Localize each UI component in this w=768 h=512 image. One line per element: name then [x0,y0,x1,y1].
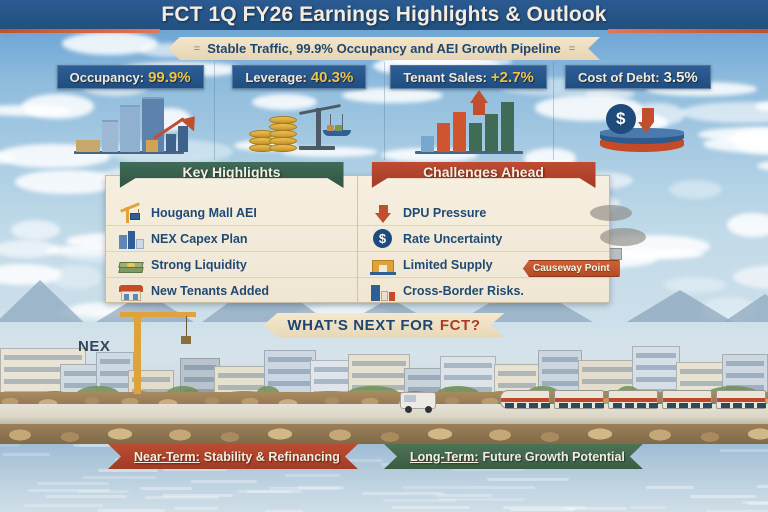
water-ripple [566,507,627,510]
water-ripple [37,482,109,485]
window-row [268,369,312,374]
train-window [691,403,700,408]
near-term-label: Near-Term: [134,450,200,464]
kpi-value-tenant-sales: +2.7% [491,69,534,86]
kpi-label-occupancy: Occupancy: [70,70,144,85]
water-ripple [174,507,220,510]
train-window [649,403,658,408]
key-highlights-ribbon: Key Highlights [120,162,344,188]
van-window [404,395,416,402]
water-ripple [140,487,193,490]
van-wheel-rear [425,406,432,413]
kpi-value-leverage: 40.3% [311,69,354,86]
water-ripple [748,502,768,505]
list-item[interactable]: Cross-Border Risks. [358,278,609,304]
bar-chart-up-arrow-icon [385,89,553,160]
kpi-label-leverage: Leverage: [245,70,306,85]
window-row [4,355,82,360]
infographic-canvas: NEX FCT 1Q FY26 Earnings Highlights & Ou… [0,0,768,512]
kpi-row: Occupancy: 99.9% Leverage: 40.3% [46,62,722,160]
window-row [100,371,130,376]
key-highlights-title: Key Highlights [182,164,280,180]
kpi-card-leverage: Leverage: 40.3% [215,62,384,160]
crane-cable [186,316,187,338]
train-car [500,390,550,409]
storm-cloud-icon [600,228,646,246]
kpi-card-occupancy: Occupancy: 99.9% [46,62,215,160]
ribbon-dash-right-icon: = [569,43,574,55]
water-ripple [720,449,768,452]
water-ripple [46,495,127,498]
train-window [733,403,742,408]
water-ripple [757,485,768,488]
office-buildings-icon [118,229,144,249]
train-car [608,390,658,409]
train-window [679,403,688,408]
train-stripe [555,398,603,402]
kpi-label-tenant-sales: Tenant Sales: [403,70,487,85]
list-item-label: Strong Liquidity [151,258,247,272]
window-row [542,381,578,386]
water-ripple [2,453,50,456]
header-bar: FCT 1Q FY26 Earnings Highlights & Outloo… [0,0,768,30]
list-item[interactable]: Hougang Mall AEI [106,200,357,226]
train-window [745,403,754,408]
causeway-point-label: Causeway Point [533,263,610,274]
train-stripe [663,398,711,402]
kpi-label-cost-of-debt: Cost of Debt: [578,70,660,85]
list-item-label: Rate Uncertainty [403,232,502,246]
train-window [703,403,712,408]
whats-next-highlight: FCT? [440,317,481,334]
list-item-label: Hougang Mall AEI [151,206,257,220]
whats-next-ribbon: WHAT'S NEXT FOR FCT? [263,313,504,337]
train-window [529,403,538,408]
train-window [517,403,526,408]
construction-crane-icon [118,203,144,223]
dollar-icon: $ [606,104,636,134]
long-term-ribbon: Long-Term: Future Growth Potential [384,444,643,469]
list-item[interactable]: $ Rate Uncertainty [358,226,609,252]
accent-strip-left [0,29,160,33]
window-row [726,373,764,378]
cash-stack-icon [118,255,144,275]
coins-balance-scale-icon [215,89,383,160]
kpi-value-occupancy: 99.9% [148,69,191,86]
water-ripple [191,480,257,483]
window-row [314,379,350,384]
train [500,390,768,412]
dollar-down-arrow-icon: $ [554,89,722,160]
train-car [716,390,766,409]
whats-next-text: WHAT'S NEXT FOR [287,317,433,334]
warehouse-icon [370,255,396,275]
train-stripe [501,398,549,402]
cloud-shape [11,220,60,240]
water-ripple [402,486,465,489]
water-ripple [435,494,492,497]
train-stripe [609,398,657,402]
water-ripple [83,476,156,479]
train-car [662,390,712,409]
train-window [613,403,622,408]
train-window [583,403,592,408]
page-title: FCT 1Q FY26 Earnings Highlights & Outloo… [161,3,606,27]
window-row [498,383,536,388]
cloud-shape [62,32,158,55]
window-row [582,379,634,384]
cloud-shape [0,240,59,258]
kpi-value-cost-of-debt: 3.5% [664,69,698,86]
window-row [184,377,216,382]
crane-jib [120,312,196,317]
train-window [541,403,550,408]
window-row [636,377,676,382]
long-term-label: Long-Term: [410,450,479,464]
train-window [625,403,634,408]
near-term-ribbon: Near-Term: Stability & Refinancing [108,444,358,469]
ribbon-dash-left-icon: = [194,43,199,55]
window-row [498,371,536,376]
window-row [680,369,726,374]
list-item-label: DPU Pressure [403,206,486,220]
train-window [667,403,676,408]
water-ripple [77,490,129,493]
cloud-shape [669,180,722,199]
water-area [0,444,768,512]
kpi-badge-leverage: Leverage: 40.3% [232,65,366,89]
train-window [721,403,730,408]
window-row [636,365,676,370]
kpi-badge-occupancy: Occupancy: 99.9% [57,65,204,89]
window-row [184,365,216,370]
kpi-card-cost-of-debt: Cost of Debt: 3.5% $ [554,62,722,160]
causeway-point-sign[interactable]: Causeway Point [523,260,620,277]
train-window [505,403,514,408]
water-ripple [646,486,694,489]
long-term-text: Future Growth Potential [483,450,625,464]
van-wheel-front [405,406,412,413]
water-ripple [98,469,158,472]
train-window [571,403,580,408]
crane-hook [181,336,191,344]
challenges-ahead-ribbon: Challenges Ahead [372,162,596,188]
window-row [582,367,634,372]
storm-cloud-icon [590,205,632,221]
window-row [636,353,676,358]
window-row [408,375,440,380]
water-ripple [392,506,470,509]
window-row [726,361,764,366]
water-ripple [465,486,535,489]
buildings-growth-chart-icon [46,89,214,160]
window-row [542,357,578,362]
factory-icon [370,281,396,301]
window-row [680,381,726,386]
window-row [352,361,406,366]
list-item[interactable]: Strong Liquidity [106,252,357,278]
window-row [542,369,578,374]
train-window [559,403,568,408]
dollar-coin-icon: $ [370,229,396,249]
water-ripple [383,499,456,502]
down-arrow-icon [370,203,396,223]
shopfront-icon [118,281,144,301]
window-row [268,381,312,386]
water-ripple [145,496,220,499]
rubble-strip-lower [0,424,768,446]
crane-mast [134,316,141,394]
train-car [554,390,604,409]
water-ripple [285,474,340,477]
insights-panel: Key Highlights Hougang Mall AEI NEX Cape… [105,175,610,303]
window-row [444,375,492,380]
water-ripple [0,444,20,447]
window-row [268,357,312,362]
water-ripple [362,492,444,495]
kpi-card-tenant-sales: Tenant Sales: +2.7% [385,62,554,160]
window-row [100,359,130,364]
near-term-text: Stability & Refinancing [204,450,340,464]
list-item[interactable]: New Tenants Added [106,278,357,304]
window-row [314,367,350,372]
cloud-shape [727,213,768,237]
list-item[interactable]: DPU Pressure [358,200,609,226]
water-ripple [24,504,103,507]
train-stripe [717,398,765,402]
cloud-shape [757,159,768,173]
nex-building-label: NEX [78,338,110,355]
water-ripple [269,487,339,490]
list-item-label: NEX Capex Plan [151,232,248,246]
train-window [757,403,766,408]
water-ripple [630,506,667,509]
water-ripple [238,490,292,493]
water-ripple [690,495,756,498]
challenges-ahead-title: Challenges Ahead [423,164,544,180]
window-row [352,373,406,378]
list-item-label: Limited Supply [403,258,493,272]
list-item-label: New Tenants Added [151,284,269,298]
train-window [595,403,604,408]
window-row [218,373,268,378]
water-ripple [487,478,569,481]
key-highlights-column: Key Highlights Hougang Mall AEI NEX Cape… [106,176,358,302]
kpi-badge-cost-of-debt: Cost of Debt: 3.5% [565,65,711,89]
accent-strip-right [608,29,768,33]
window-row [444,363,492,368]
subtitle-text: Stable Traffic, 99.9% Occupancy and AEI … [207,41,561,56]
list-item-label: Cross-Border Risks. [403,284,524,298]
kpi-badge-tenant-sales: Tenant Sales: +2.7% [390,65,547,89]
challenges-ahead-column: Challenges Ahead DPU Pressure $ Rate Unc… [358,176,609,302]
train-window [637,403,646,408]
subtitle-ribbon: = Stable Traffic, 99.9% Occupancy and AE… [168,37,600,60]
list-item[interactable]: NEX Capex Plan [106,226,357,252]
